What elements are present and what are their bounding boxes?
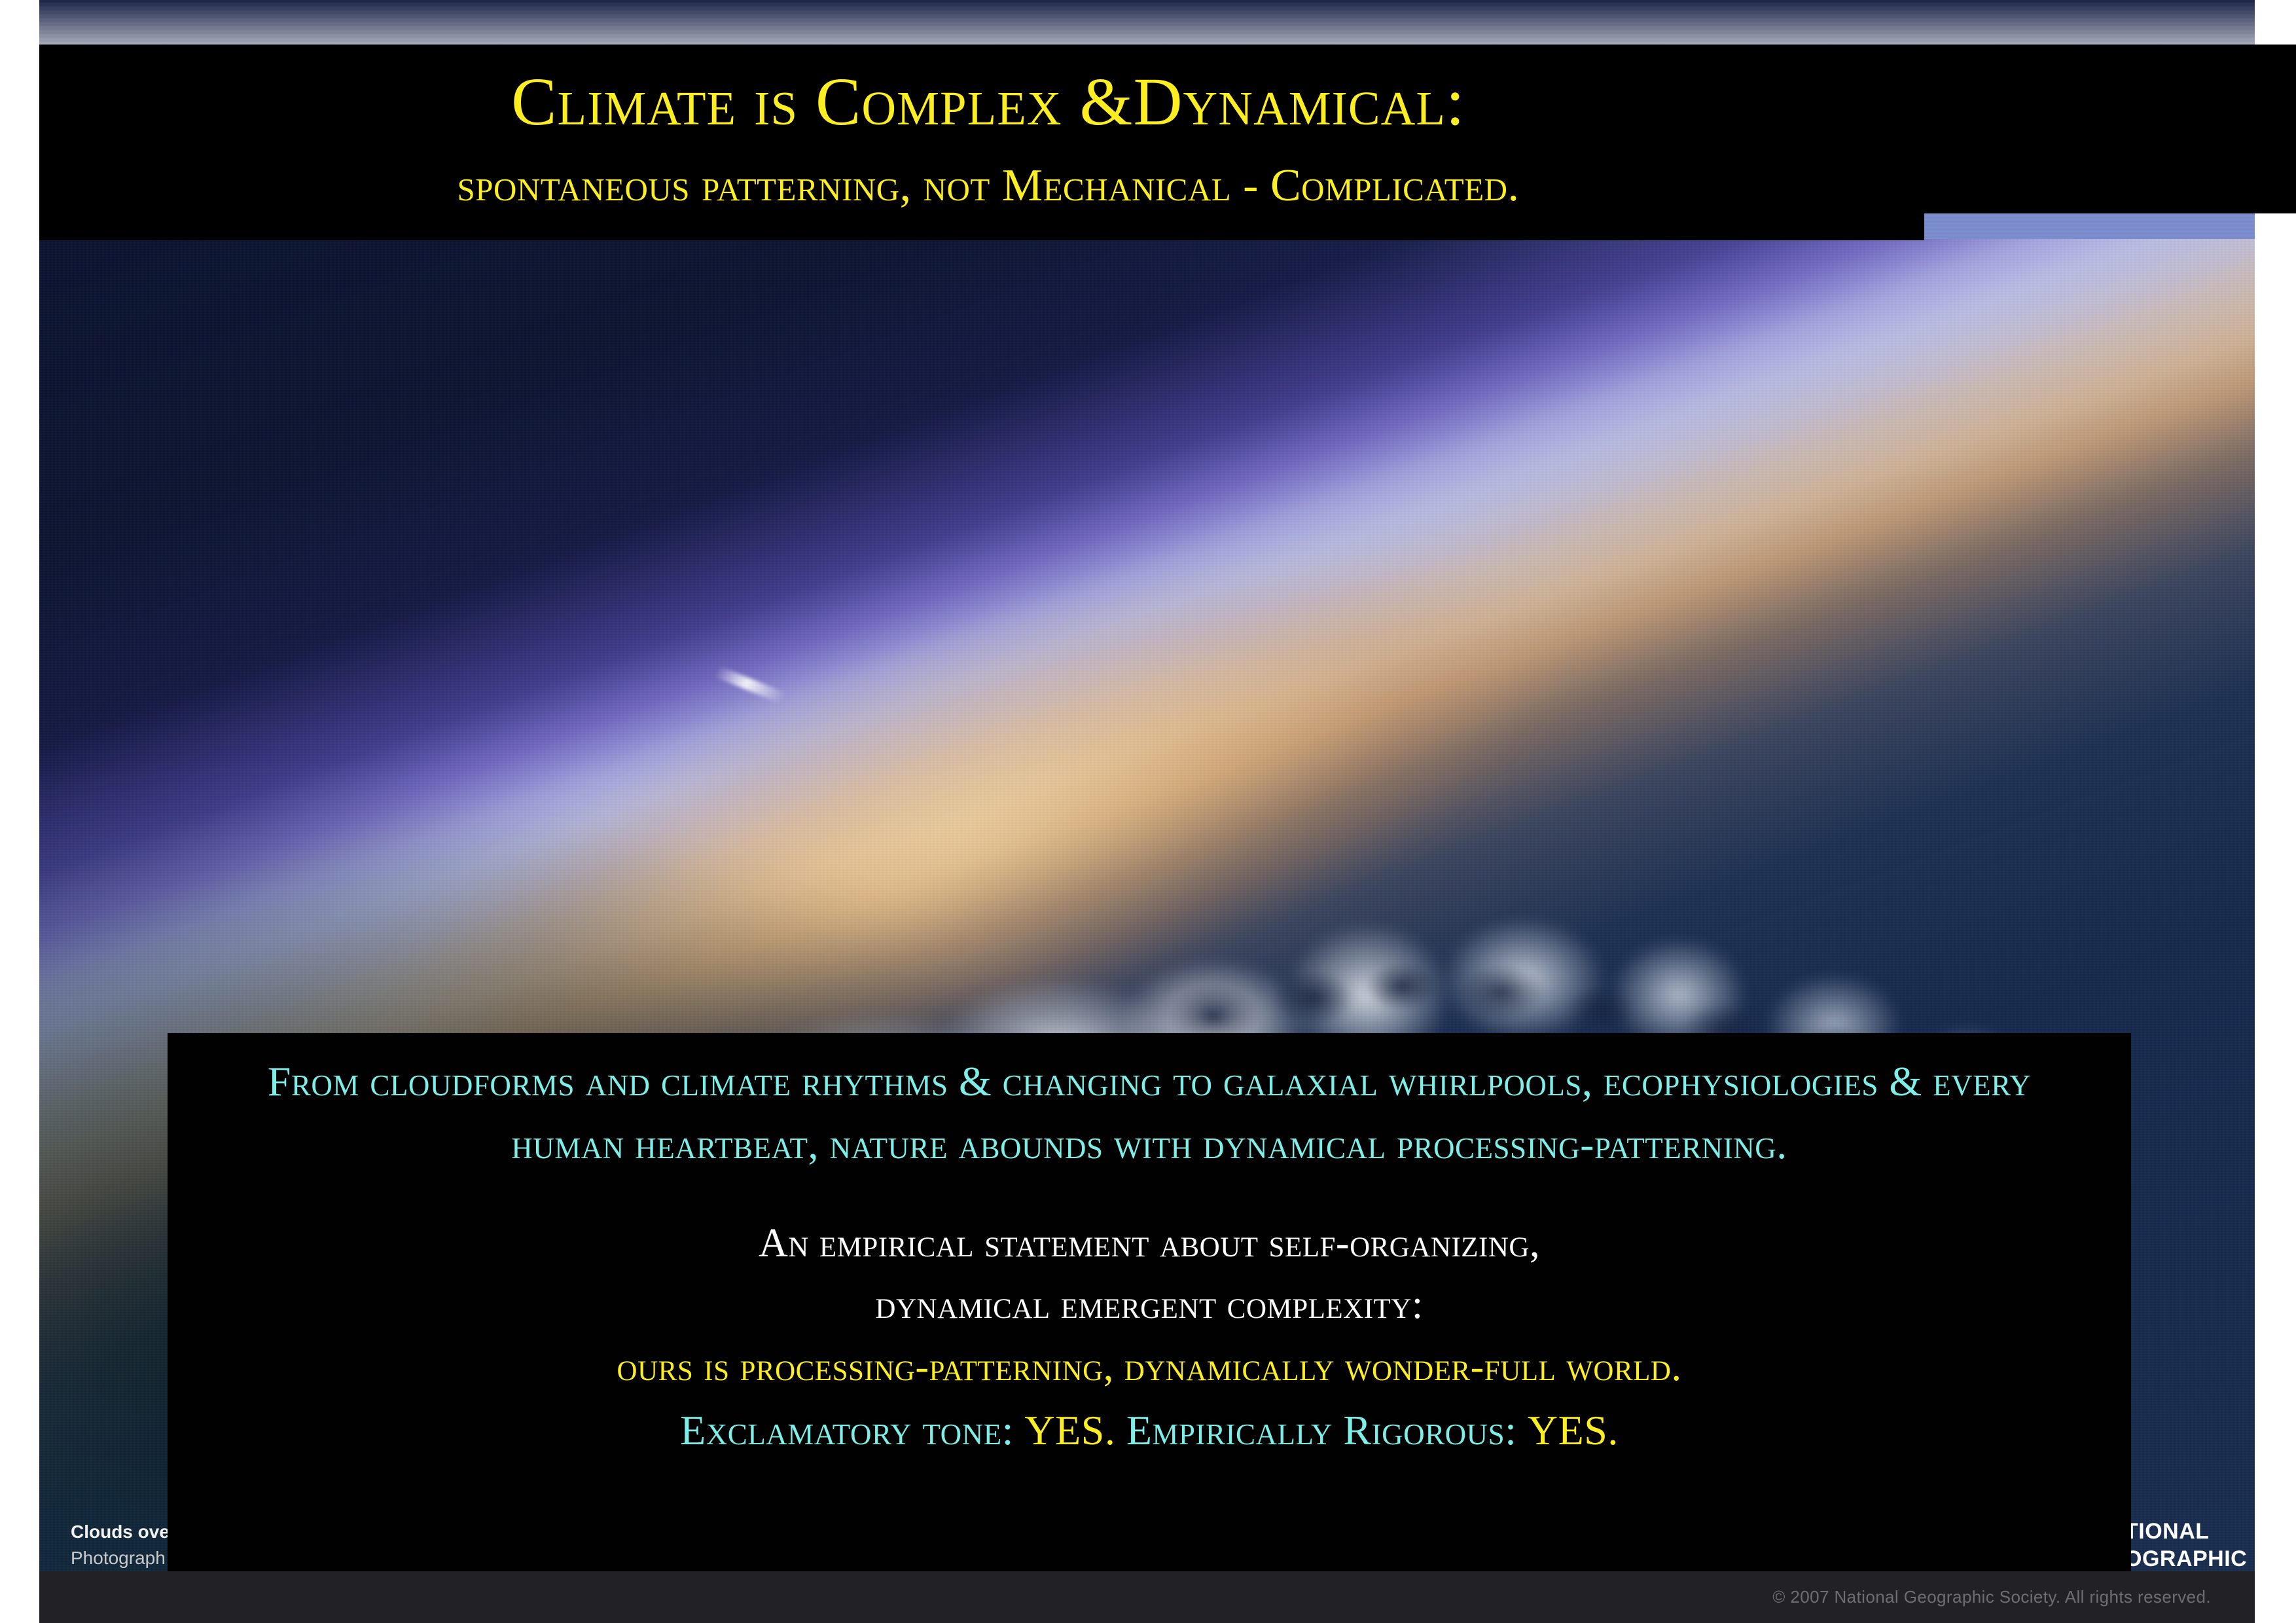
natgeo-logo-line2: OGRAPHIC [2125, 1545, 2247, 1573]
cyan-paragraph: From cloudforms and climate rhythms & ch… [168, 1050, 2131, 1176]
final-yes-1: YES. [1024, 1407, 1115, 1453]
national-geographic-logo: TIONAL OGRAPHIC [2125, 1518, 2247, 1573]
slide-subtitle: spontaneous patterning, not Mechanical -… [39, 158, 1937, 213]
final-affirmation-line: Exclamatory tone: YES. Empirically Rigor… [168, 1398, 2131, 1463]
copyright-notice: © 2007 National Geographic Society. All … [1772, 1587, 2211, 1607]
statement-line-2: dynamical emergent complexity: [168, 1274, 2131, 1336]
final-yes-2: YES. [1528, 1407, 1619, 1453]
paragraph-spacer [168, 1176, 2131, 1213]
final-prefix-1: Exclamatory tone: [680, 1407, 1024, 1453]
final-prefix-2: Empirically Rigorous: [1115, 1407, 1528, 1453]
presentation-slide: Clouds ove Photograph TIONAL OGRAPHIC © … [0, 0, 2296, 1623]
natgeo-logo-line1: TIONAL [2125, 1518, 2247, 1545]
yellow-assertion-line: ours is processing-patterning, dynamical… [168, 1336, 2131, 1398]
statement-line-1: An empirical statement about self-organi… [168, 1213, 2131, 1274]
title-banner-lower [39, 211, 1924, 240]
body-text-panel: From cloudforms and climate rhythms & ch… [168, 1033, 2131, 1571]
body-text-content: From cloudforms and climate rhythms & ch… [168, 1050, 2131, 1463]
slide-title: Climate is Complex &Dynamical: [39, 65, 1937, 139]
